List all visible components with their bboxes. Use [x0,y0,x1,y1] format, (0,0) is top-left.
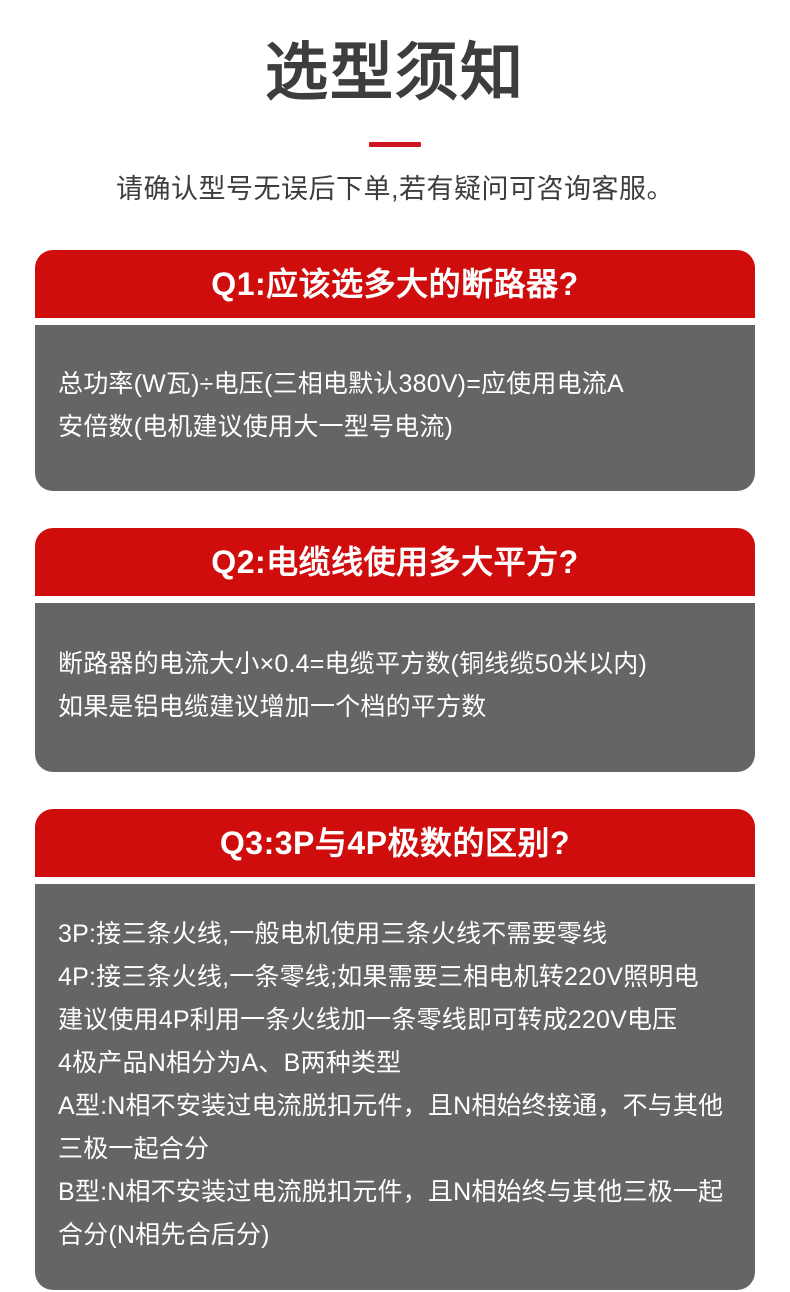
faq-card-q2: Q2:电缆线使用多大平方? 断路器的电流大小×0.4=电缆平方数(铜线缆50米以… [35,528,755,772]
faq-card-q1-line-1: 总功率(W瓦)÷电压(三相电默认380V)=应使用电流A [58,363,755,406]
page-subtitle: 请确认型号无误后下单,若有疑问可咨询客服。 [0,147,790,205]
faq-card-q1-line-2: 安倍数(电机建议使用大一型号电流) [58,406,755,449]
faq-card-q3: Q3:3P与4P极数的区别? 3P:接三条火线,一般电机使用三条火线不需要零线 … [35,809,755,1290]
faq-card-q2-line-1: 断路器的电流大小×0.4=电缆平方数(铜线缆50米以内) [58,643,755,686]
faq-card-q3-line-8: 合分(N相先合后分) [58,1214,755,1257]
faq-card-q3-header: Q3:3P与4P极数的区别? [35,809,755,877]
faq-card-q3-body: 3P:接三条火线,一般电机使用三条火线不需要零线 4P:接三条火线,一条零线;如… [35,884,755,1290]
faq-card-q1-header: Q1:应该选多大的断路器? [35,250,755,318]
faq-card-q3-line-6: 三极一起合分 [58,1128,755,1171]
faq-card-q1-body: 总功率(W瓦)÷电压(三相电默认380V)=应使用电流A 安倍数(电机建议使用大… [35,325,755,491]
faq-card-q3-header-text: Q3:3P与4P极数的区别? [220,827,570,859]
faq-card-q3-line-7: B型:N相不安装过电流脱扣元件，且N相始终与其他三极一起 [58,1171,755,1214]
faq-card-q2-header-text: Q2:电缆线使用多大平方? [211,546,578,578]
page-header: 选型须知 请确认型号无误后下单,若有疑问可咨询客服。 [0,0,790,205]
faq-card-q2-body: 断路器的电流大小×0.4=电缆平方数(铜线缆50米以内) 如果是铝电缆建议增加一… [35,603,755,772]
page-title: 选型须知 [0,0,790,105]
faq-card-q3-line-5: A型:N相不安装过电流脱扣元件，且N相始终接通，不与其他 [58,1085,755,1128]
faq-card-q1: Q1:应该选多大的断路器? 总功率(W瓦)÷电压(三相电默认380V)=应使用电… [35,250,755,491]
faq-card-list: Q1:应该选多大的断路器? 总功率(W瓦)÷电压(三相电默认380V)=应使用电… [35,250,755,1290]
selection-guide-page: 选型须知 请确认型号无误后下单,若有疑问可咨询客服。 Q1:应该选多大的断路器?… [0,0,790,1292]
faq-card-q3-line-1: 3P:接三条火线,一般电机使用三条火线不需要零线 [58,913,755,956]
faq-card-q2-line-2: 如果是铝电缆建议增加一个档的平方数 [58,686,755,729]
faq-card-q3-line-2: 4P:接三条火线,一条零线;如果需要三相电机转220V照明电 [58,956,755,999]
faq-card-q1-header-text: Q1:应该选多大的断路器? [211,268,578,300]
faq-card-q2-header: Q2:电缆线使用多大平方? [35,528,755,596]
faq-card-q3-line-3: 建议使用4P利用一条火线加一条零线即可转成220V电压 [58,999,755,1042]
faq-card-q3-line-4: 4极产品N相分为A、B两种类型 [58,1042,755,1085]
